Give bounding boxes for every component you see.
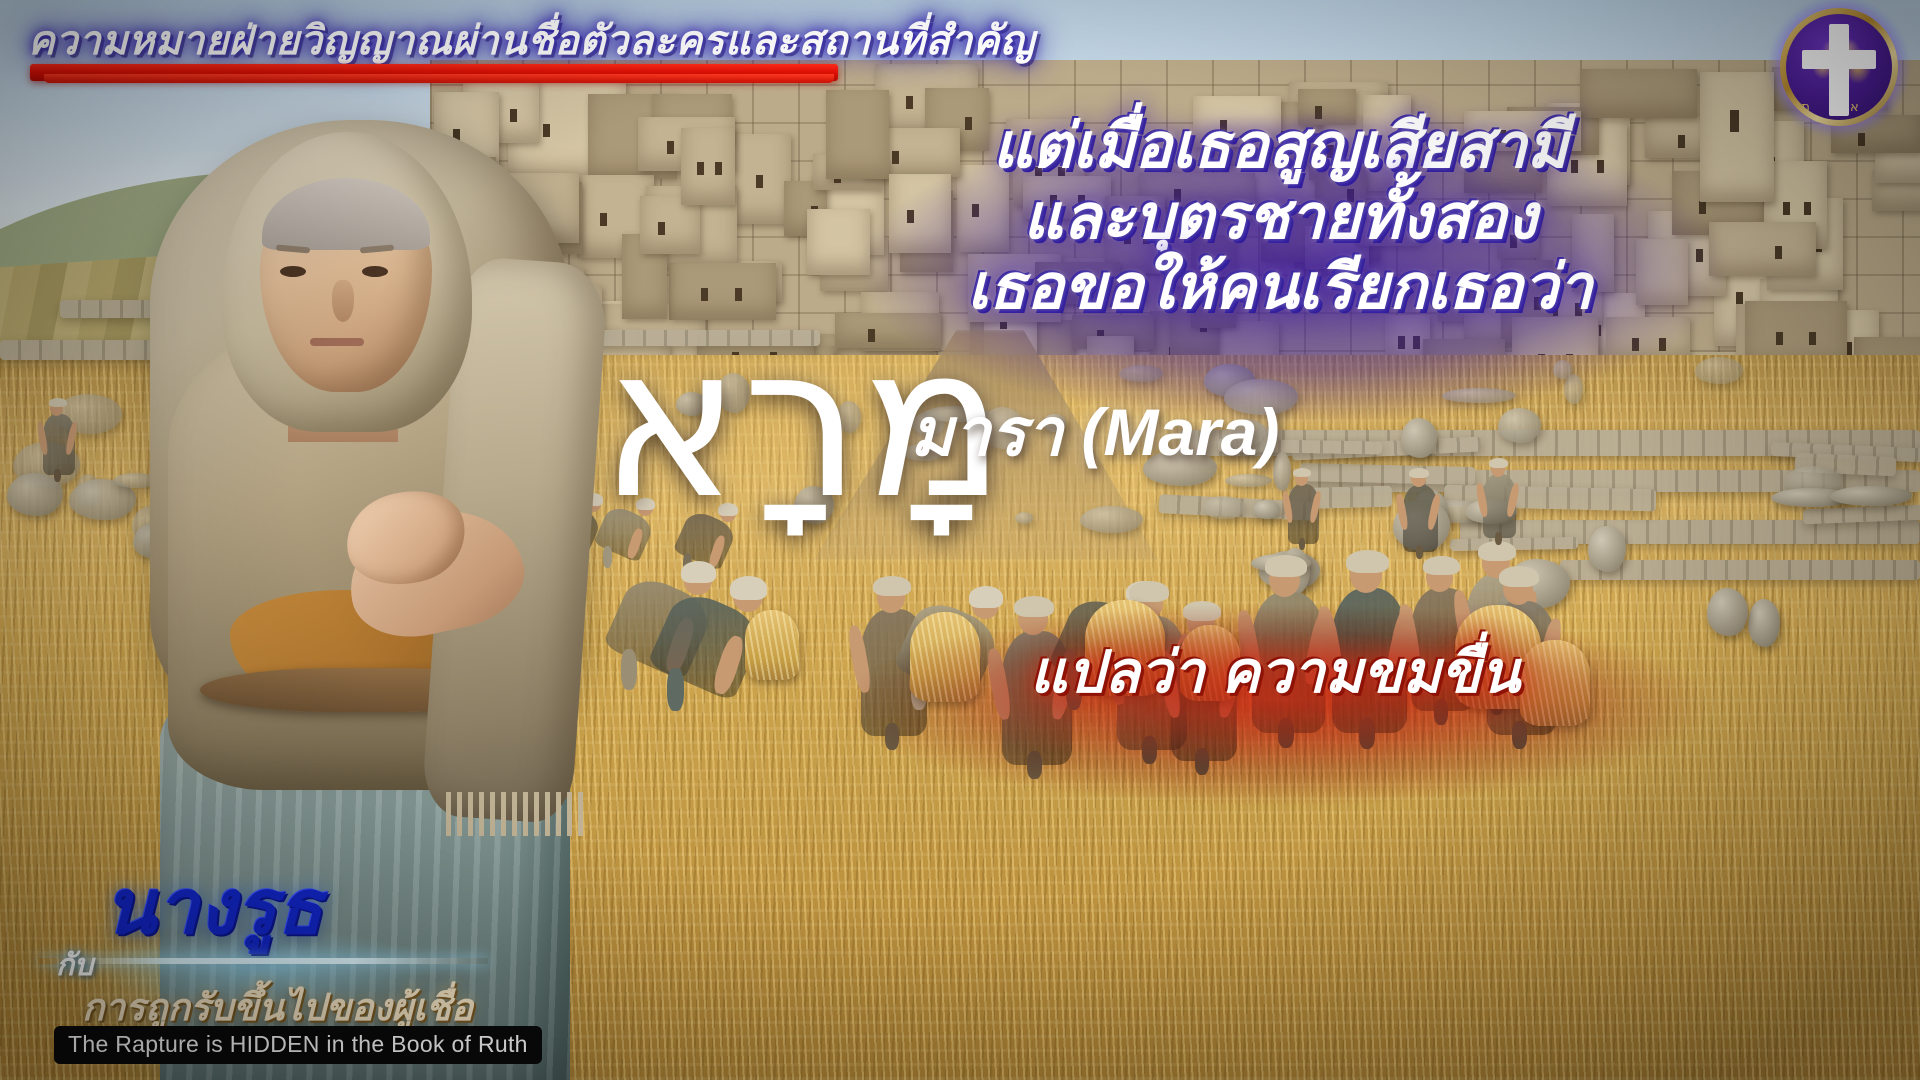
widow-nose <box>332 280 354 322</box>
badge-gold-ring: א ת <box>1780 8 1898 126</box>
ministry-logo-badge[interactable]: א ת <box>1780 8 1898 126</box>
widow-scarf-fringe <box>446 792 586 836</box>
page-title: ความหมายฝ่ายวิญญาณผ่านชื่อตัวละครและสถาน… <box>28 20 1035 62</box>
series-title: นางรูธ <box>104 870 323 946</box>
widow-eye-right <box>362 266 388 277</box>
cross-icon-horizontal <box>1802 50 1876 69</box>
meaning-caption: แปลว่า ความขมขื่น <box>700 625 1850 718</box>
series-logo-light-streak <box>38 958 488 964</box>
series-logo[interactable]: นางรูธ กับ การถูกรับขึ้นไปของผู้เชื่อ Th… <box>48 874 468 1064</box>
poster-canvas: ความหมายฝ่ายวิญญาณผ่านชื่อตัวละครและสถาน… <box>0 0 1920 1080</box>
series-english-tagline: The Rapture is HIDDEN in the Book of Rut… <box>54 1026 542 1064</box>
title-underline-shadow <box>44 74 834 83</box>
main-heading-line-2: และบุตรชายทั้งสอง <box>690 183 1870 254</box>
widow-eye-left <box>280 266 306 277</box>
main-heading: แต่เมื่อเธอสูญเสียสามี และบุตรชายทั้งสอง… <box>690 112 1870 324</box>
badge-face: א ת <box>1786 14 1892 120</box>
transliteration-label: มารา (Mara) <box>910 380 1279 485</box>
main-heading-line-1: แต่เมื่อเธอสูญเสียสามี <box>690 112 1870 183</box>
widow-mouth <box>310 338 364 346</box>
